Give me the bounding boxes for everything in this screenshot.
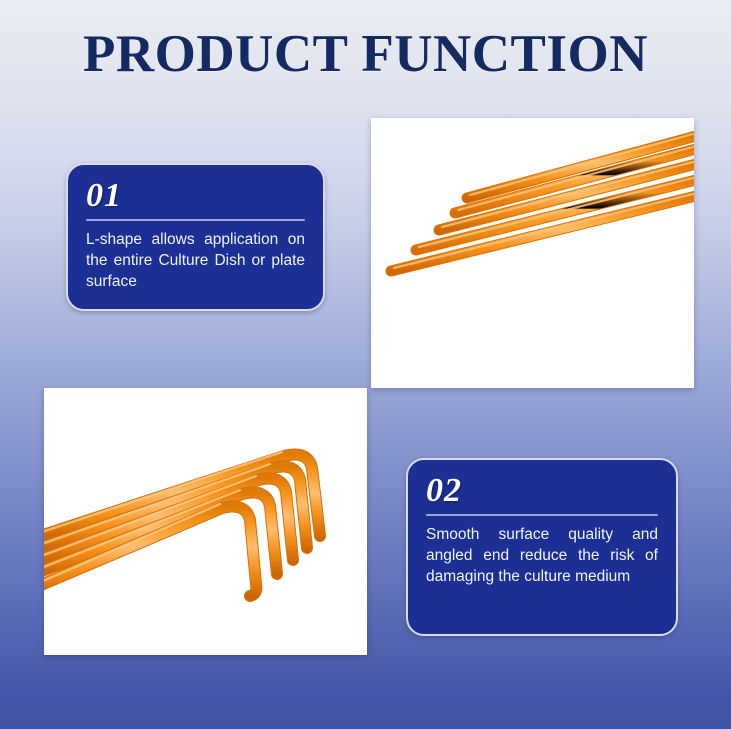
info-card-02: 02 Smooth surface quality and angled end… [406, 458, 678, 636]
product-function-poster: PRODUCT FUNCTION 01 L-shape allows appli… [0, 0, 731, 729]
page-title: PRODUCT FUNCTION [0, 24, 731, 84]
info-card-02-divider [426, 514, 658, 516]
straight-spreader-rods-photo [371, 118, 694, 388]
info-card-02-number: 02 [426, 473, 658, 509]
bent-rods-illustration [44, 388, 367, 655]
info-card-01-text: L-shape allows application on the entire… [86, 229, 305, 292]
info-card-01-number: 01 [86, 178, 305, 214]
info-card-02-text: Smooth surface quality and angled end re… [426, 524, 658, 587]
info-card-01-divider [86, 219, 305, 221]
bent-end-spreader-rods-photo [44, 388, 367, 655]
info-card-01: 01 L-shape allows application on the ent… [66, 163, 325, 311]
straight-rods-illustration [371, 118, 694, 388]
